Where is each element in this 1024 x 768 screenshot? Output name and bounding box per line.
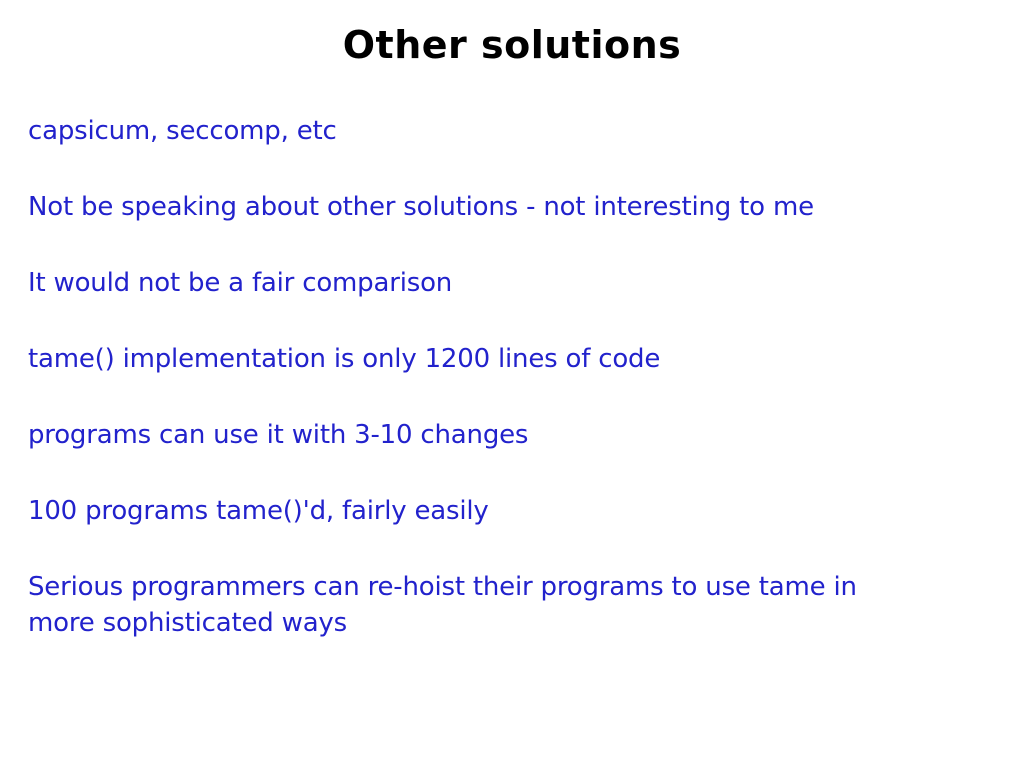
bullet-line-6: 100 programs tame()'d, fairly easily: [28, 493, 928, 529]
bullet-line-1: capsicum, seccomp, etc: [28, 113, 928, 149]
bullet-line-7: Serious programmers can re-hoist their p…: [28, 569, 908, 641]
bullet-line-4: tame() implementation is only 1200 lines…: [28, 341, 928, 377]
bullet-line-3: It would not be a fair comparison: [28, 265, 928, 301]
presentation-slide: Other solutions capsicum, seccomp, etc N…: [0, 0, 1024, 768]
slide-body: capsicum, seccomp, etc Not be speaking a…: [28, 113, 928, 641]
slide-title: Other solutions: [0, 22, 1024, 68]
bullet-line-2: Not be speaking about other solutions - …: [28, 189, 928, 225]
bullet-line-5: programs can use it with 3-10 changes: [28, 417, 928, 453]
